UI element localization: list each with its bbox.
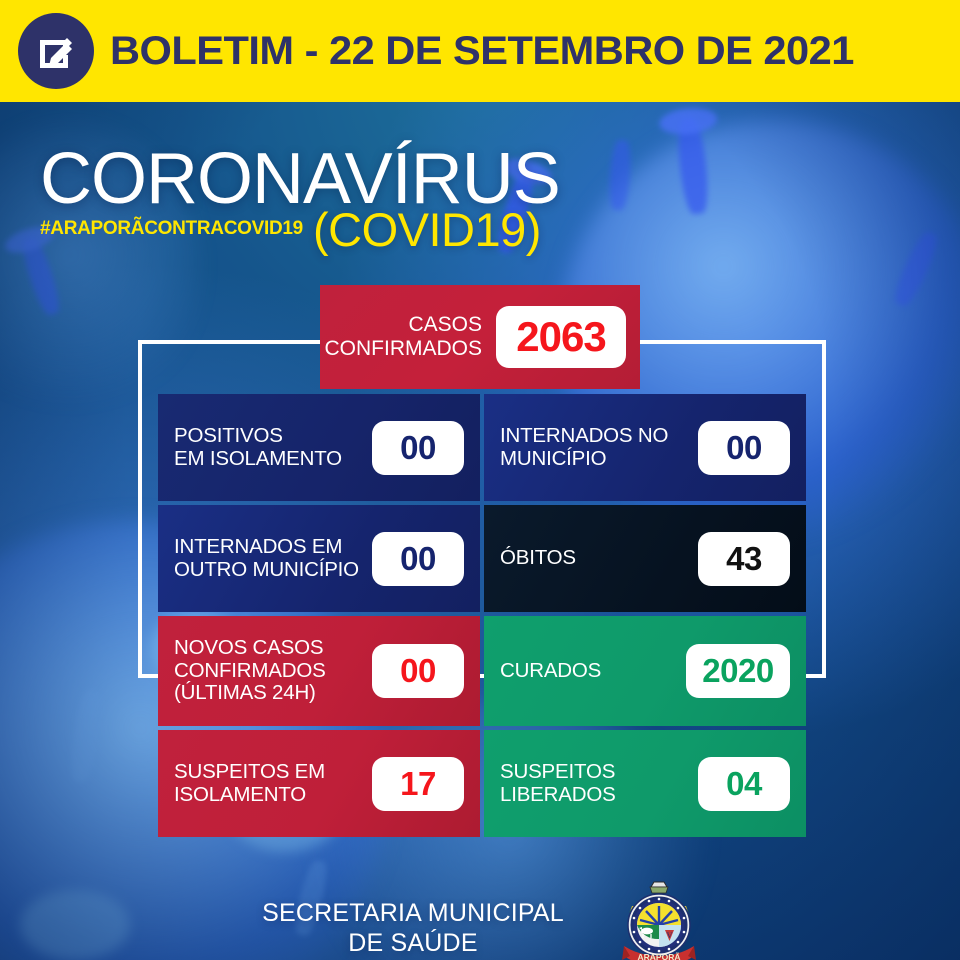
stat-label: POSITIVOSEM ISOLAMENTO — [174, 425, 372, 471]
confirmed-cases-banner: CASOS CONFIRMADOS 2063 — [320, 285, 640, 389]
stat-value: 00 — [400, 540, 436, 578]
confirmed-cases-value: 2063 — [516, 313, 605, 361]
footer-department: SECRETARIA MUNICIPAL DE SAÚDE — [262, 898, 564, 958]
stat-card-positivos-em-isolamento: POSITIVOSEM ISOLAMENTO 00 — [158, 394, 480, 501]
stats-row: SUSPEITOS EMISOLAMENTO 17 SUSPEITOSLIBER… — [158, 730, 806, 837]
edit-document-icon — [18, 13, 94, 89]
stat-value: 43 — [726, 540, 762, 578]
stats-row: NOVOS CASOSCONFIRMADOS(ÚLTIMAS 24H) 00 C… — [158, 616, 806, 726]
stat-value: 00 — [726, 429, 762, 467]
footer: SECRETARIA MUNICIPAL DE SAÚDE — [0, 880, 960, 960]
stat-card-suspeitos-em-isolamento: SUSPEITOS EMISOLAMENTO 17 — [158, 730, 480, 837]
stat-value: 04 — [726, 765, 762, 803]
confirmed-cases-value-pill: 2063 — [496, 306, 626, 368]
stat-card-novos-casos-confirmados: NOVOS CASOSCONFIRMADOS(ÚLTIMAS 24H) 00 — [158, 616, 480, 726]
footer-line2: DE SAÚDE — [262, 928, 564, 958]
stat-label: NOVOS CASOSCONFIRMADOS(ÚLTIMAS 24H) — [174, 637, 372, 706]
stat-value: 2020 — [702, 652, 773, 690]
stat-value: 17 — [400, 765, 436, 803]
confirmed-cases-label: CASOS CONFIRMADOS — [325, 313, 483, 360]
stat-value-pill: 43 — [698, 532, 790, 586]
stat-label: CURADOS — [500, 660, 686, 683]
stat-value-pill: 2020 — [686, 644, 790, 698]
stats-row: INTERNADOS EMOUTRO MUNICÍPIO 00 ÓBITOS 4… — [158, 505, 806, 612]
campaign-hashtag: #ARAPORÃCONTRACOVID19 — [40, 218, 303, 240]
stat-value-pill: 00 — [372, 421, 464, 475]
stat-label: ÓBITOS — [500, 547, 698, 570]
covid-bulletin-poster: BOLETIM - 22 DE SETEMBRO DE 2021 CORONAV… — [0, 0, 960, 960]
stat-value-pill: 00 — [372, 532, 464, 586]
header-title: BOLETIM - 22 DE SETEMBRO DE 2021 — [110, 29, 854, 74]
stat-card-curados: CURADOS 2020 — [484, 616, 806, 726]
stat-value-pill: 00 — [698, 421, 790, 475]
stat-card-internados-no-municipio: INTERNADOS NOMUNICÍPIO 00 — [484, 394, 806, 501]
stat-label: INTERNADOS NOMUNICÍPIO — [500, 425, 698, 471]
stat-label: SUSPEITOS EMISOLAMENTO — [174, 761, 372, 807]
header-bar: BOLETIM - 22 DE SETEMBRO DE 2021 — [0, 0, 960, 102]
stat-label: INTERNADOS EMOUTRO MUNICÍPIO — [174, 536, 372, 582]
stats-grid: POSITIVOSEM ISOLAMENTO 00 INTERNADOS NOM… — [158, 394, 806, 841]
stat-card-suspeitos-liberados: SUSPEITOSLIBERADOS 04 — [484, 730, 806, 837]
stat-value-pill: 04 — [698, 757, 790, 811]
stat-card-internados-em-outro-municipio: INTERNADOS EMOUTRO MUNICÍPIO 00 — [158, 505, 480, 612]
crest-ribbon-text: ARAPORÃ — [637, 952, 680, 960]
footer-line1: SECRETARIA MUNICIPAL — [262, 898, 564, 928]
stat-label: SUSPEITOSLIBERADOS — [500, 761, 698, 807]
stat-value: 00 — [400, 652, 436, 690]
arapora-coat-of-arms-icon: V ARAPORÃ 1992 — [620, 880, 698, 960]
stat-value: 00 — [400, 429, 436, 467]
stat-value-pill: 00 — [372, 644, 464, 698]
svg-text:V: V — [666, 931, 672, 940]
confirmed-cases-label-line2: CONFIRMADOS — [325, 337, 483, 361]
stat-value-pill: 17 — [372, 757, 464, 811]
stats-row: POSITIVOSEM ISOLAMENTO 00 INTERNADOS NOM… — [158, 394, 806, 501]
page-subtitle: (COVID19) — [313, 206, 541, 253]
confirmed-cases-label-line1: CASOS — [325, 313, 483, 337]
stat-card-obitos: ÓBITOS 43 — [484, 505, 806, 612]
